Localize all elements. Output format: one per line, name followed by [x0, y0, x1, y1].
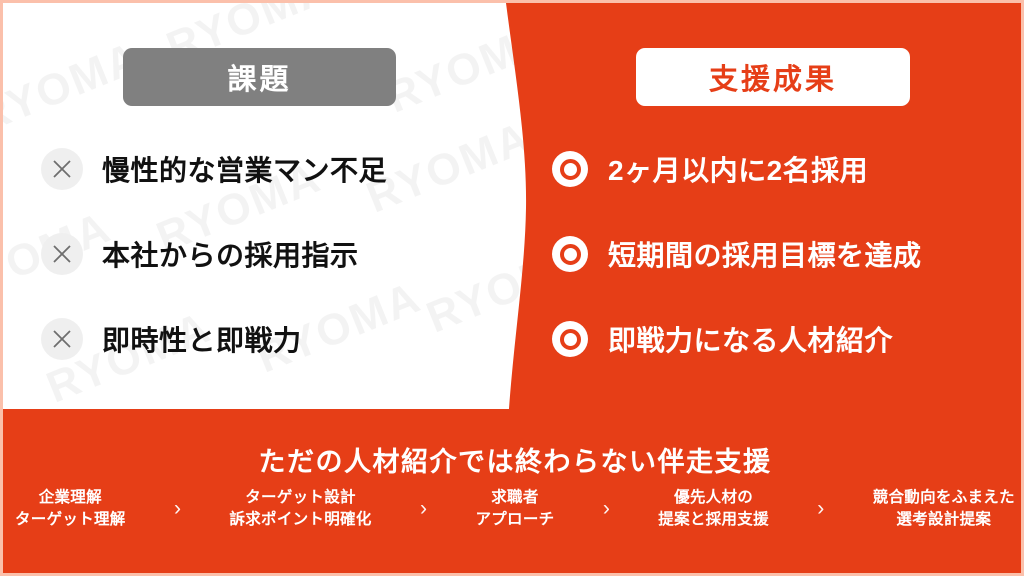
step-line-1: 企業理解 — [15, 487, 126, 509]
chevron-right-icon: › — [599, 497, 614, 521]
list-item-label: 即時性と即戦力 — [102, 319, 302, 359]
process-step: 優先人材の 提案と採用支援 — [658, 487, 769, 532]
step-line-2: 訴求ポイント明確化 — [229, 509, 371, 531]
step-line-2: アプローチ — [475, 509, 554, 531]
cross-icon — [41, 233, 83, 275]
chevron-right-icon: › — [416, 497, 431, 521]
step-line-1: ターゲット設計 — [229, 487, 371, 509]
step-line-1: 求職者 — [475, 487, 554, 509]
result-badge: 支援成果 — [636, 48, 910, 106]
list-item-label: 慢性的な営業マン不足 — [102, 149, 387, 189]
bullseye-icon — [552, 321, 588, 357]
chevron-right-icon: › — [170, 497, 185, 521]
list-item: 即時性と即戦力 — [41, 313, 491, 365]
process-step: 企業理解 ターゲット理解 — [15, 487, 126, 532]
list-item-label: 本社からの採用指示 — [102, 234, 359, 274]
step-line-2: ターゲット理解 — [15, 509, 126, 531]
list-item: 短期間の採用目標を達成 — [552, 228, 1012, 280]
cross-icon — [41, 318, 83, 360]
list-item-label: 短期間の採用目標を達成 — [608, 234, 922, 274]
step-line-1: 競合動向をふまえた — [873, 487, 1015, 509]
list-item: 慢性的な営業マン不足 — [41, 143, 491, 195]
process-step: 求職者 アプローチ — [475, 487, 554, 532]
content-layer: 課題 支援成果 慢性的な営業マン不足 — [3, 3, 1024, 576]
problem-badge: 課題 — [123, 48, 396, 106]
chevron-right-icon: › — [813, 497, 828, 521]
list-item-label: 2ヶ月以内に2名採用 — [608, 149, 868, 189]
step-line-2: 提案と採用支援 — [658, 509, 769, 531]
step-line-1: 優先人材の — [658, 487, 769, 509]
list-item-label: 即戦力になる人材紹介 — [608, 319, 893, 359]
result-list: 2ヶ月以内に2名採用 短期間の採用目標を達成 即戦力になる人材紹介 — [552, 143, 1012, 398]
bullseye-icon — [552, 236, 588, 272]
list-item: 2ヶ月以内に2名採用 — [552, 143, 1012, 195]
process-step-flow: 企業理解 ターゲット理解 › ターゲット設計 訴求ポイント明確化 › 求職者 ア… — [15, 487, 1015, 532]
step-line-2: 選考設計提案 — [873, 509, 1015, 531]
slide-root: RYOMA RYOMA RYOMA RYOMA RYOMA RYOMA RYOM… — [0, 0, 1024, 576]
list-item: 即戦力になる人材紹介 — [552, 313, 1012, 365]
process-step: ターゲット設計 訴求ポイント明確化 — [229, 487, 371, 532]
problem-list: 慢性的な営業マン不足 本社からの採用指示 即 — [41, 143, 491, 398]
bullseye-icon — [552, 151, 588, 187]
list-item: 本社からの採用指示 — [41, 228, 491, 280]
band-title: ただの人材紹介では終わらない伴走支援 — [3, 440, 1024, 479]
process-step: 競合動向をふまえた 選考設計提案 — [873, 487, 1015, 532]
cross-icon — [41, 148, 83, 190]
